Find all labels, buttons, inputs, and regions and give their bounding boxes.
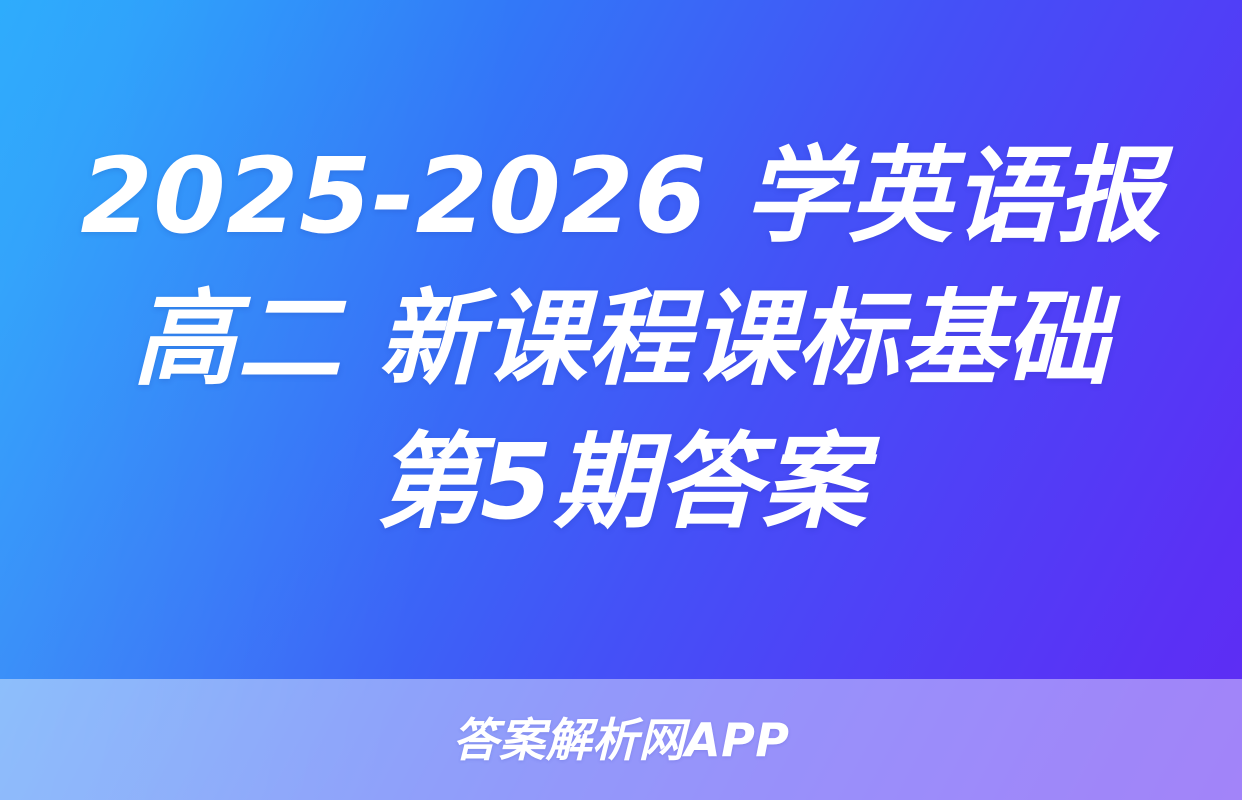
app-watermark-label: 答案解析网APP bbox=[452, 717, 789, 763]
answer-cover-card: 2025-2026 学英语报 高二 新课程课标基础 第5期答案 答案解析网APP bbox=[0, 0, 1242, 800]
watermark-bar: 答案解析网APP bbox=[0, 679, 1242, 800]
page-title: 2025-2026 学英语报 高二 新课程课标基础 第5期答案 bbox=[70, 125, 1172, 554]
headline-block: 2025-2026 学英语报 高二 新课程课标基础 第5期答案 bbox=[0, 0, 1242, 679]
